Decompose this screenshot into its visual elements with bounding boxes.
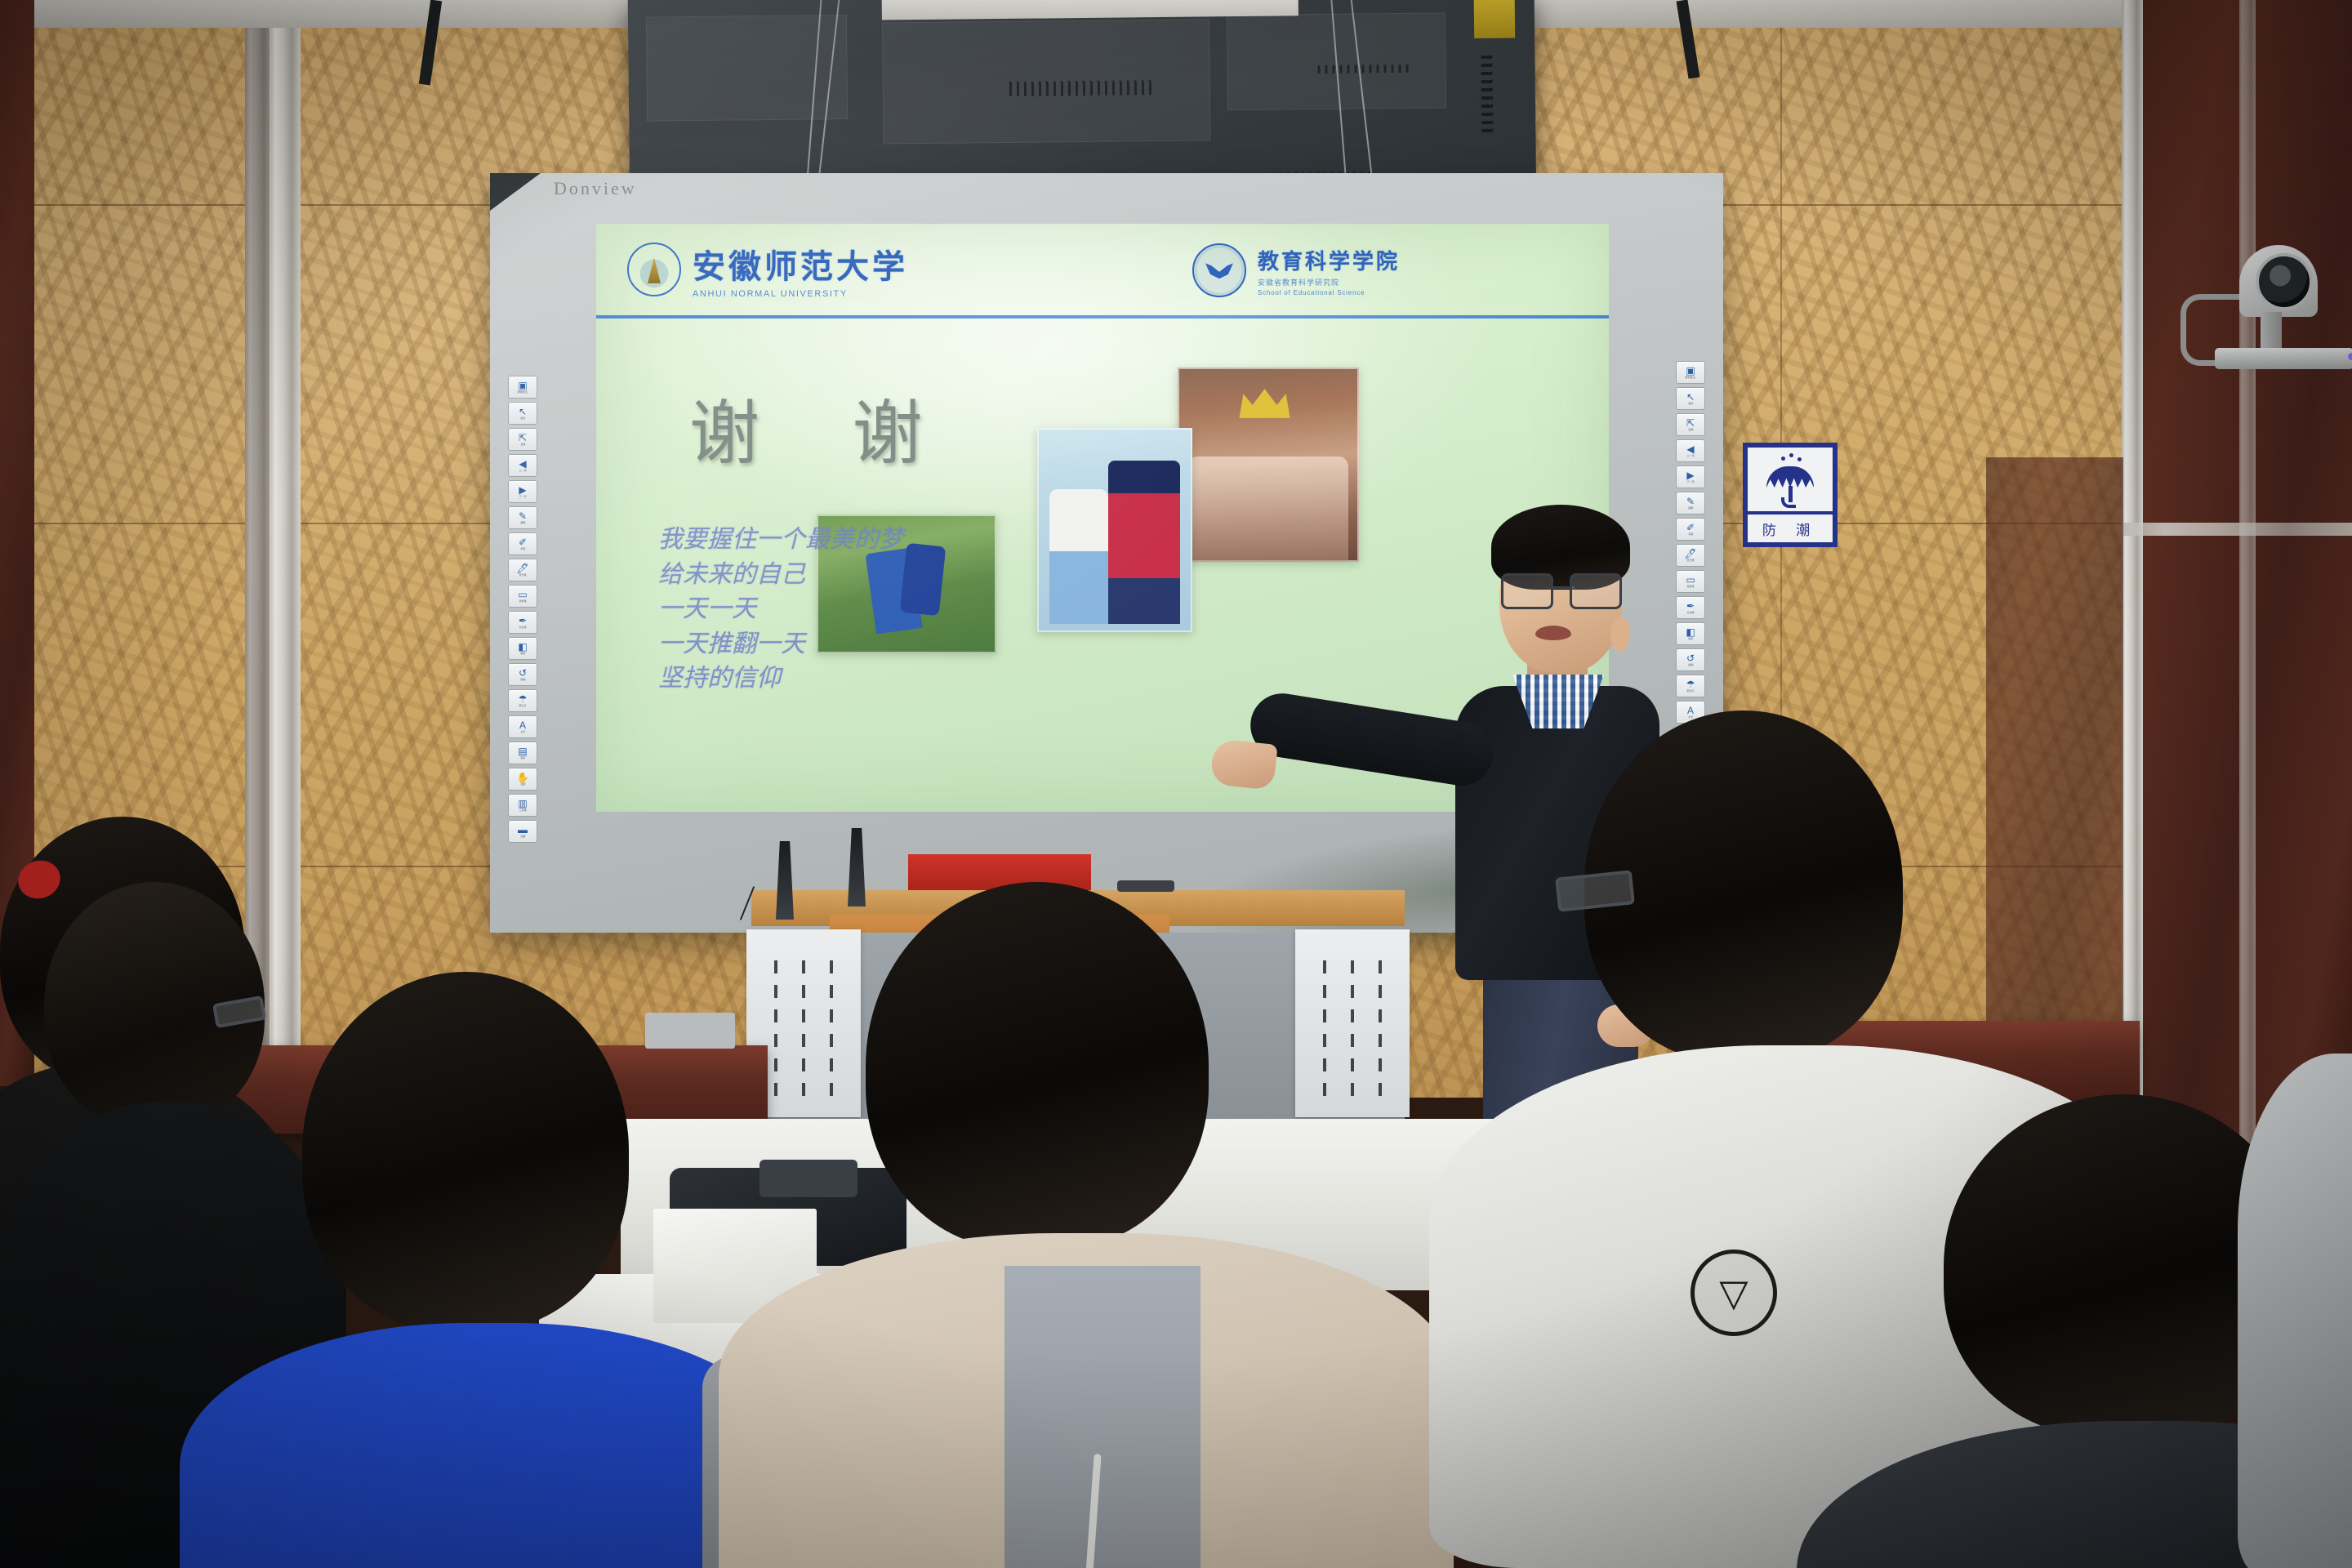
whiteboard-spotlight-button-left[interactable]: ☂聚光灯 bbox=[508, 689, 537, 712]
whiteboard-button-caption: 隐藏 bbox=[520, 835, 525, 838]
whiteboard-next-page-button-left[interactable]: ▶下一页 bbox=[508, 480, 537, 503]
university-crest-icon bbox=[627, 243, 681, 296]
whiteboard-hide-bar-button-left[interactable]: ▬隐藏 bbox=[508, 820, 537, 843]
whiteboard-mouse-button-left[interactable]: ↖鼠标 bbox=[508, 402, 537, 425]
school-name-en: School of Educational Science bbox=[1258, 289, 1400, 296]
select-icon: ⇱ bbox=[1686, 418, 1695, 428]
whiteboard-highlighter-button-left[interactable]: 🖊荧光笔 bbox=[508, 559, 537, 581]
hide-bar-icon: ▬ bbox=[518, 825, 528, 835]
school-crest-icon bbox=[1192, 243, 1246, 297]
whiteboard-select-button-right[interactable]: ⇱选择 bbox=[1676, 413, 1705, 436]
prev-page-icon: ◀ bbox=[519, 459, 526, 469]
pan-icon: ✋ bbox=[517, 773, 529, 782]
whiteboard-button-caption: 下一页 bbox=[519, 495, 526, 498]
next-page-icon: ▶ bbox=[519, 485, 526, 495]
presenter-ear bbox=[1610, 617, 1630, 652]
whiteboard-button-caption: 鼠标 bbox=[520, 416, 525, 420]
prev-page-icon: ◀ bbox=[1686, 444, 1694, 454]
desk-item-camera bbox=[759, 1160, 857, 1197]
camera-base bbox=[2215, 348, 2352, 369]
whiteboard-button-caption: 鼠标 bbox=[1688, 402, 1693, 405]
whiteboard-button-caption: 选择 bbox=[520, 443, 525, 446]
whiteboard-button-caption: 智能笔 bbox=[519, 599, 526, 603]
whiteboard-button-caption: 屏幕批注 bbox=[518, 390, 528, 394]
wall-dark-right bbox=[2122, 0, 2352, 1160]
smart-pen-icon: ▭ bbox=[518, 590, 527, 599]
school-name-cn: 教育科学学院 bbox=[1258, 245, 1400, 275]
whiteboard-brand-label: Donview bbox=[554, 178, 637, 199]
whiteboard-corner-tab bbox=[490, 173, 541, 211]
slide-logo-school: 教育科学学院 安徽省教育科学研究院 School of Educational … bbox=[1192, 243, 1400, 297]
camera-lens-icon bbox=[2256, 253, 2313, 310]
sign-label: 防 潮 bbox=[1748, 511, 1833, 542]
whiteboard-button-caption: 上一页 bbox=[519, 469, 526, 472]
slide-thanks-text: 谢 谢 bbox=[689, 376, 960, 478]
whiteboard-pan-button-left[interactable]: ✋漫游 bbox=[508, 768, 537, 791]
whiteboard-undo-button-left[interactable]: ↺撤销 bbox=[508, 663, 537, 686]
mouse-icon: ↖ bbox=[519, 407, 527, 416]
eraser-icon: ◧ bbox=[518, 642, 527, 652]
whiteboard-button-caption: 荧光笔 bbox=[519, 573, 526, 577]
ptz-camera bbox=[2225, 245, 2352, 376]
slide-header-rule bbox=[596, 315, 1609, 318]
slide-photo-birthday-crown bbox=[1178, 367, 1359, 562]
select-icon: ⇱ bbox=[519, 433, 527, 443]
whiteboard-hard-pen-button-left[interactable]: ✎硬笔 bbox=[508, 506, 537, 529]
lectern-remote-control bbox=[1117, 880, 1174, 892]
display-vent-a bbox=[1009, 80, 1155, 96]
lectern-speaker-right bbox=[1295, 929, 1410, 1117]
calligraphy-icon: ✒ bbox=[519, 616, 527, 626]
brush-pen-icon: ✐ bbox=[519, 537, 527, 547]
whiteboard-prev-page-button-right[interactable]: ◀上一页 bbox=[1676, 439, 1705, 462]
slide-poem-line: 一天推翻一天 bbox=[658, 627, 903, 662]
display-port-strip bbox=[1481, 55, 1493, 131]
next-page-icon: ▶ bbox=[1686, 470, 1694, 480]
whiteboard-annotate-button-right[interactable]: ▣屏幕批注 bbox=[1676, 361, 1705, 384]
spotlight-icon: ☂ bbox=[519, 694, 528, 704]
wall-column-left-inner bbox=[245, 28, 271, 1089]
highlighter-icon: 🖊 bbox=[516, 563, 528, 573]
whiteboard-calligraphy-button-left[interactable]: ✒书法笔 bbox=[508, 611, 537, 634]
save-icon: ▤ bbox=[518, 746, 527, 756]
text-icon: A bbox=[519, 720, 526, 730]
whiteboard-brush-pen-button-left[interactable]: ✐毛笔 bbox=[508, 532, 537, 555]
whiteboard-button-caption: 保存 bbox=[520, 756, 525, 759]
mouse-icon: ↖ bbox=[1686, 392, 1695, 402]
school-sub-cn: 安徽省教育科学研究院 bbox=[1258, 277, 1400, 287]
whiteboard-button-caption: 橡皮 bbox=[520, 652, 525, 655]
whiteboard-button-caption: 工具箱 bbox=[519, 808, 526, 812]
classroom-scene: Donview ▣屏幕批注↖鼠标⇱选择◀上一页▶下一页✎硬笔✐毛笔🖊荧光笔▭智能… bbox=[0, 0, 2352, 1568]
wall-rail-right bbox=[2123, 523, 2352, 536]
whiteboard-text-button-left[interactable]: A文字 bbox=[508, 715, 537, 738]
whiteboard-button-caption: 毛笔 bbox=[520, 547, 525, 550]
university-name-en: ANHUI NORMAL UNIVERSITY bbox=[693, 289, 908, 299]
slide-poem: 我要握住一个最美的梦给未来的自己一天一天一天推翻一天坚持的信仰 bbox=[658, 523, 903, 697]
whiteboard-save-button-left[interactable]: ▤保存 bbox=[508, 742, 537, 764]
whiteboard-mouse-button-right[interactable]: ↖鼠标 bbox=[1676, 387, 1705, 410]
audience-hoodie-collar bbox=[1004, 1266, 1200, 1568]
whiteboard-select-button-left[interactable]: ⇱选择 bbox=[508, 428, 537, 451]
wall-column-right-2 bbox=[2239, 0, 2256, 1160]
umbrella-icon bbox=[1748, 448, 1833, 511]
whiteboard-button-caption: 聚光灯 bbox=[519, 704, 526, 707]
display-bracket bbox=[1474, 0, 1516, 38]
whiteboard-button-caption: 撤销 bbox=[520, 678, 525, 681]
annotate-icon: ▣ bbox=[1686, 366, 1695, 376]
wall-seam-left-1 bbox=[34, 204, 245, 206]
whiteboard-annotate-button-left[interactable]: ▣屏幕批注 bbox=[508, 376, 537, 399]
toolbox-icon: ▥ bbox=[518, 799, 527, 808]
whiteboard-smart-pen-button-left[interactable]: ▭智能笔 bbox=[508, 585, 537, 608]
moisture-warning-sign: 防 潮 bbox=[1743, 443, 1837, 547]
whiteboard-prev-page-button-left[interactable]: ◀上一页 bbox=[508, 454, 537, 477]
whiteboard-toolbox-button-left[interactable]: ▥工具箱 bbox=[508, 794, 537, 817]
camera-status-led bbox=[2348, 353, 2352, 360]
slide-poem-line: 我要握住一个最美的梦 bbox=[658, 523, 903, 558]
annotate-icon: ▣ bbox=[518, 381, 527, 390]
slide-poem-line: 给未来的自己 bbox=[658, 558, 903, 593]
wall-column-right bbox=[2122, 0, 2143, 1160]
whiteboard-button-caption: 文字 bbox=[520, 730, 525, 733]
display-vent-b bbox=[1317, 65, 1408, 73]
university-name-cn: 安徽师范大学 bbox=[693, 240, 908, 287]
audience-hoodie-logo: ▽ bbox=[1690, 1249, 1777, 1336]
whiteboard-button-caption: 上一页 bbox=[1686, 454, 1694, 457]
presenter-glasses-icon bbox=[1501, 573, 1622, 606]
slide-logo-university: 安徽师范大学 ANHUI NORMAL UNIVERSITY bbox=[627, 240, 908, 299]
whiteboard-toolbar-left[interactable]: ▣屏幕批注↖鼠标⇱选择◀上一页▶下一页✎硬笔✐毛笔🖊荧光笔▭智能笔✒书法笔◧橡皮… bbox=[508, 376, 537, 843]
slide-poem-line: 坚持的信仰 bbox=[658, 661, 903, 697]
desk-item-book bbox=[645, 1013, 735, 1049]
presenter-mouth bbox=[1535, 626, 1571, 640]
slide-poem-line: 一天一天 bbox=[658, 592, 903, 627]
whiteboard-eraser-button-left[interactable]: ◧橡皮 bbox=[508, 637, 537, 660]
whiteboard-button-caption: 书法笔 bbox=[519, 626, 526, 629]
whiteboard-button-caption: 硬笔 bbox=[520, 521, 525, 524]
whiteboard-button-caption: 选择 bbox=[1688, 428, 1693, 431]
hard-pen-icon: ✎ bbox=[519, 511, 527, 521]
whiteboard-button-caption: 漫游 bbox=[520, 782, 525, 786]
slide-photo-graduation bbox=[1037, 428, 1192, 632]
wall-column-left bbox=[269, 28, 301, 1089]
whiteboard-button-caption: 屏幕批注 bbox=[1686, 376, 1695, 379]
undo-icon: ↺ bbox=[519, 668, 527, 678]
wall-seam-left-2 bbox=[34, 523, 245, 524]
